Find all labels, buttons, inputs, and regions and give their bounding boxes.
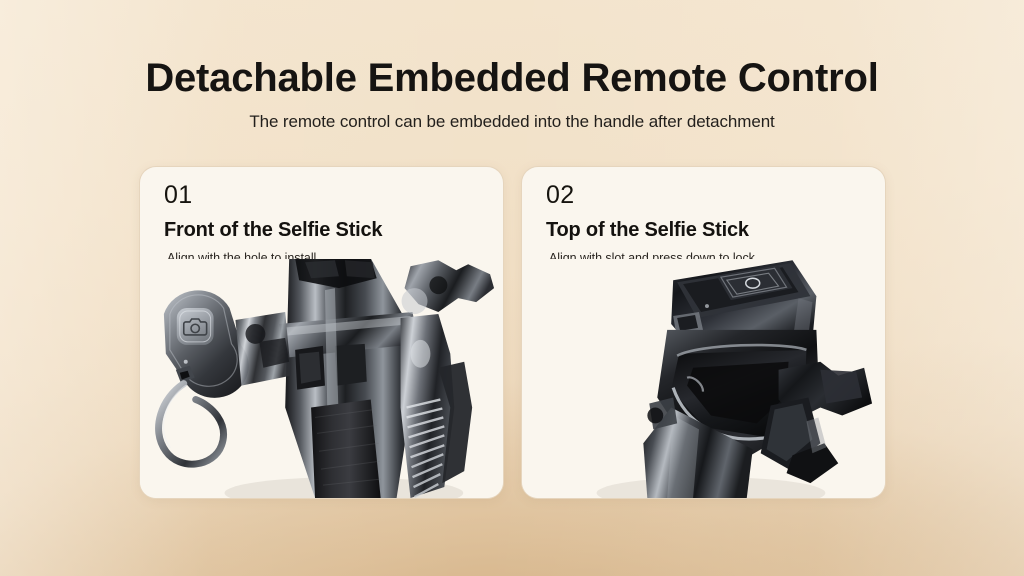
card-step-01[interactable]: 01 Front of the Selfie Stick Align with … [139,166,504,499]
camera-shutter-icon [177,308,214,345]
selfie-stick-top-illustration [522,259,885,498]
card-step-02[interactable]: 02 Top of the Selfie Stick Align with sl… [521,166,886,499]
card-text-block: 01 Front of the Selfie Stick Align with … [164,181,487,265]
header: Detachable Embedded Remote Control The r… [0,56,1024,132]
card-row: 01 Front of the Selfie Stick Align with … [139,166,886,499]
card-text-block: 02 Top of the Selfie Stick Align with sl… [546,181,869,265]
product-photo-top [522,259,885,498]
leather-grip [311,400,381,498]
step-title: Front of the Selfie Stick [164,219,487,242]
selfie-stick-front-illustration [140,259,503,498]
step-title: Top of the Selfie Stick [546,219,869,242]
infographic-slide: Detachable Embedded Remote Control The r… [0,0,1024,576]
step-number: 02 [546,181,869,211]
page-subtitle: The remote control can be embedded into … [0,112,1024,132]
step-number: 01 [164,181,487,211]
product-photo-front [140,259,503,498]
page-title: Detachable Embedded Remote Control [0,56,1024,102]
